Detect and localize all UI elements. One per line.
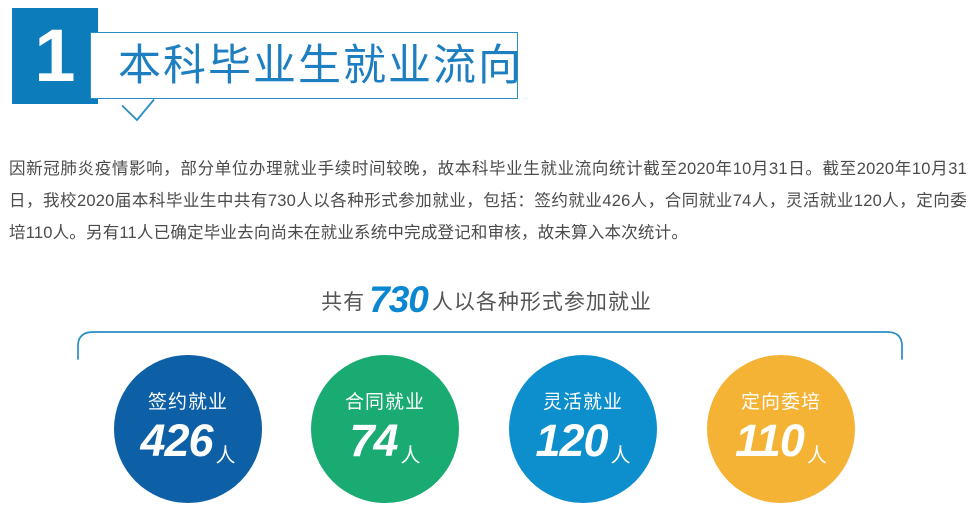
stat-value-row: 110人	[707, 417, 855, 480]
stat-unit: 人	[398, 445, 421, 467]
page-title: 本科毕业生就业流向	[118, 38, 523, 94]
stat-label: 定向委培	[707, 391, 855, 415]
section-number-badge: 1	[12, 8, 98, 104]
summary-line: 共有730人以各种形式参加就业	[0, 281, 973, 322]
stat-unit: 人	[608, 445, 631, 467]
stat-circle-directed: 定向委培 110人	[707, 355, 855, 503]
stat-value-row: 74人	[311, 417, 459, 480]
stat-circle-contract: 合同就业 74人	[311, 355, 459, 503]
summary-total-number: 730	[365, 279, 432, 320]
stat-unit: 人	[804, 445, 827, 467]
stat-value-row: 426人	[114, 417, 262, 480]
stat-number: 120	[535, 415, 607, 466]
stat-label: 灵活就业	[509, 391, 657, 415]
stat-unit: 人	[213, 445, 236, 467]
stat-number: 110	[735, 415, 804, 466]
stat-circle-group: 签约就业 426人 合同就业 74人 灵活就业 120人 定向委培 110人	[0, 355, 973, 516]
summary-prefix: 共有	[321, 291, 365, 314]
stat-circle-signed: 签约就业 426人	[114, 355, 262, 503]
callout-tail-icon	[113, 98, 155, 122]
intro-paragraph: 因新冠肺炎疫情影响，部分单位办理就业手续时间较晚，故本科毕业生就业流向统计截至2…	[9, 153, 967, 249]
stat-label: 合同就业	[311, 391, 459, 415]
stat-label: 签约就业	[114, 391, 262, 415]
stat-number: 426	[140, 415, 212, 466]
stat-number: 74	[349, 415, 397, 466]
page-header: 1 本科毕业生就业流向	[0, 0, 973, 125]
stat-value-row: 120人	[509, 417, 657, 480]
stat-circle-flexible: 灵活就业 120人	[509, 355, 657, 503]
summary-suffix: 人以各种形式参加就业	[432, 291, 652, 314]
